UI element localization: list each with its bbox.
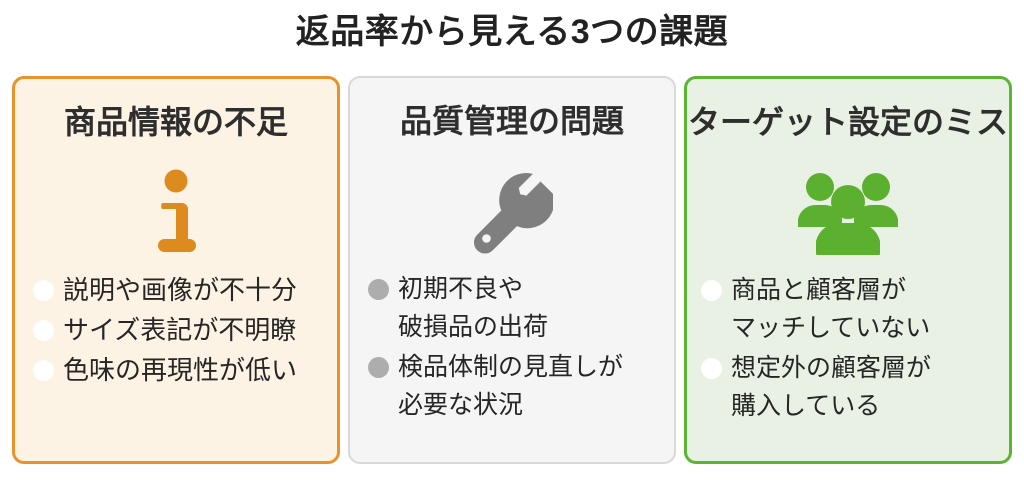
list-item: サイズ表記が不明瞭 <box>33 311 323 349</box>
card-product-information: 商品情報の不足 説明や画像が不十分 サイズ表記が不明瞭 <box>12 76 340 464</box>
bullet-text: 検品体制の見直しが 必要な状況 <box>398 348 623 424</box>
bullet-dot-icon <box>33 280 54 301</box>
list-item: 商品と顧客層が マッチしていない <box>701 271 995 347</box>
bullet-text: 想定外の顧客層が 購入している <box>731 349 931 425</box>
bullet-text: サイズ表記が不明瞭 <box>63 311 296 349</box>
bullet-list: 説明や画像が不十分 サイズ表記が不明瞭 色味の再現性が低い <box>33 271 323 391</box>
bullet-text: 色味の再現性が低い <box>63 351 297 389</box>
bullet-text: 説明や画像が不十分 <box>63 271 297 309</box>
card-quality-control: 品質管理の問題 初期不良や 破損品の出荷 検品体制の見直しが 必要な状況 <box>348 76 676 464</box>
card-title: 商品情報の不足 <box>15 101 337 143</box>
page-title: 返品率から見える3つの課題 <box>0 8 1024 56</box>
info-icon <box>15 167 337 259</box>
bullet-text: 初期不良や 破損品の出荷 <box>398 270 548 346</box>
bullet-dot-icon <box>701 280 722 301</box>
bullet-dot-icon <box>33 360 54 381</box>
list-item: 説明や画像が不十分 <box>33 271 323 309</box>
bullet-dot-icon <box>33 320 54 341</box>
list-item: 想定外の顧客層が 購入している <box>701 349 995 425</box>
card-title: 品質管理の問題 <box>350 100 674 142</box>
cards-row: 商品情報の不足 説明や画像が不十分 サイズ表記が不明瞭 <box>12 76 1012 464</box>
bullet-dot-icon <box>701 358 722 379</box>
list-item: 初期不良や 破損品の出荷 <box>368 270 660 346</box>
bullet-list: 商品と顧客層が マッチしていない 想定外の顧客層が 購入している <box>701 271 995 427</box>
bullet-dot-icon <box>368 279 389 300</box>
bullet-text: 商品と顧客層が マッチしていない <box>731 271 930 347</box>
list-item: 検品体制の見直しが 必要な状況 <box>368 348 660 424</box>
bullet-list: 初期不良や 破損品の出荷 検品体制の見直しが 必要な状況 <box>368 270 660 426</box>
bullet-dot-icon <box>368 357 389 378</box>
card-target-setting: ターゲット設定のミス 商品と顧客層が マッチしていない <box>684 76 1012 464</box>
infographic-root: 返品率から見える3つの課題 商品情報の不足 説明や画像が不十分 サイズ表記が <box>0 0 1024 480</box>
card-title: ターゲット設定のミス <box>687 101 1009 143</box>
list-item: 色味の再現性が低い <box>33 351 323 389</box>
wrench-icon <box>350 166 674 258</box>
people-group-icon <box>687 167 1009 259</box>
